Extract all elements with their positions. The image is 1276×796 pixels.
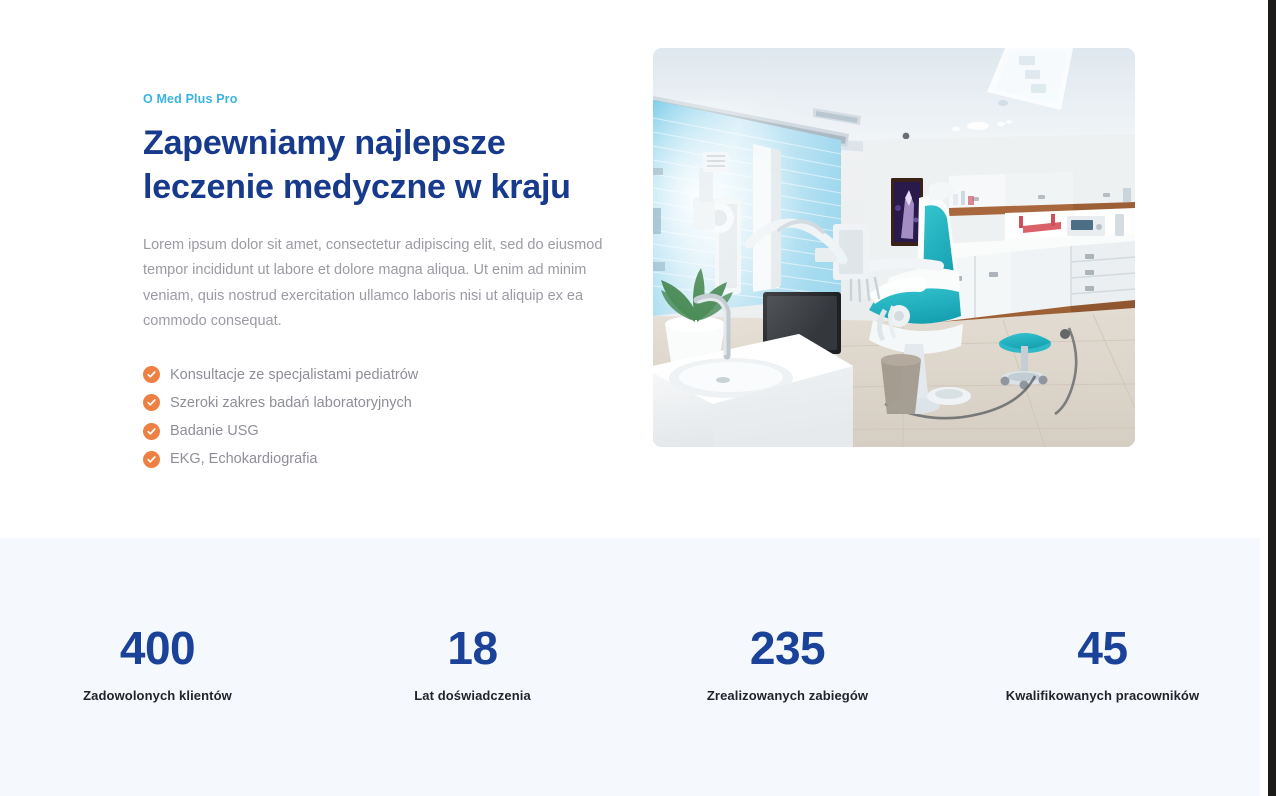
page-root: O Med Plus Pro Zapewniamy najlepsze lecz…	[0, 0, 1276, 796]
hero-eyebrow: O Med Plus Pro	[143, 92, 623, 106]
check-circle-icon	[143, 366, 160, 383]
list-item: Konsultacje ze specjalistami pediatrów	[143, 365, 623, 385]
stat-value: 45	[945, 624, 1260, 672]
stat-label: Zrealizowanych zabiegów	[630, 688, 945, 703]
check-circle-icon	[143, 394, 160, 411]
dental-clinic-photo	[653, 48, 1135, 447]
page-title: Zapewniamy najlepsze leczenie medyczne w…	[143, 122, 583, 209]
check-circle-icon	[143, 451, 160, 468]
stat-item: 45 Kwalifikowanych pracowników	[945, 624, 1260, 703]
stat-label: Kwalifikowanych pracowników	[945, 688, 1260, 703]
feature-list: Konsultacje ze specjalistami pediatrów S…	[143, 365, 623, 470]
feature-label: Konsultacje ze specjalistami pediatrów	[170, 365, 418, 385]
stat-label: Zadowolonych klientów	[0, 688, 315, 703]
list-item: EKG, Echokardiografia	[143, 449, 623, 469]
stat-item: 400 Zadowolonych klientów	[0, 624, 315, 703]
stat-item: 18 Lat doświadczenia	[315, 624, 630, 703]
feature-label: Szeroki zakres badań laboratoryjnych	[170, 393, 412, 413]
stat-value: 18	[315, 624, 630, 672]
feature-label: EKG, Echokardiografia	[170, 449, 318, 469]
hero-text-block: O Med Plus Pro Zapewniamy najlepsze lecz…	[143, 92, 623, 478]
hero-section: O Med Plus Pro Zapewniamy najlepsze lecz…	[0, 0, 1260, 538]
hero-paragraph: Lorem ipsum dolor sit amet, consectetur …	[143, 233, 618, 335]
stats-section: 400 Zadowolonych klientów 18 Lat doświad…	[0, 538, 1260, 796]
viewport-right-gap	[1260, 0, 1268, 796]
list-item: Szeroki zakres badań laboratoryjnych	[143, 393, 623, 413]
stats-row: 400 Zadowolonych klientów 18 Lat doświad…	[0, 624, 1260, 703]
stat-value: 400	[0, 624, 315, 672]
dental-clinic-illustration	[653, 48, 1135, 447]
stat-label: Lat doświadczenia	[315, 688, 630, 703]
browser-edge-strip[interactable]	[1268, 0, 1276, 796]
list-item: Badanie USG	[143, 421, 623, 441]
stat-item: 235 Zrealizowanych zabiegów	[630, 624, 945, 703]
feature-label: Badanie USG	[170, 421, 259, 441]
check-circle-icon	[143, 423, 160, 440]
stat-value: 235	[630, 624, 945, 672]
